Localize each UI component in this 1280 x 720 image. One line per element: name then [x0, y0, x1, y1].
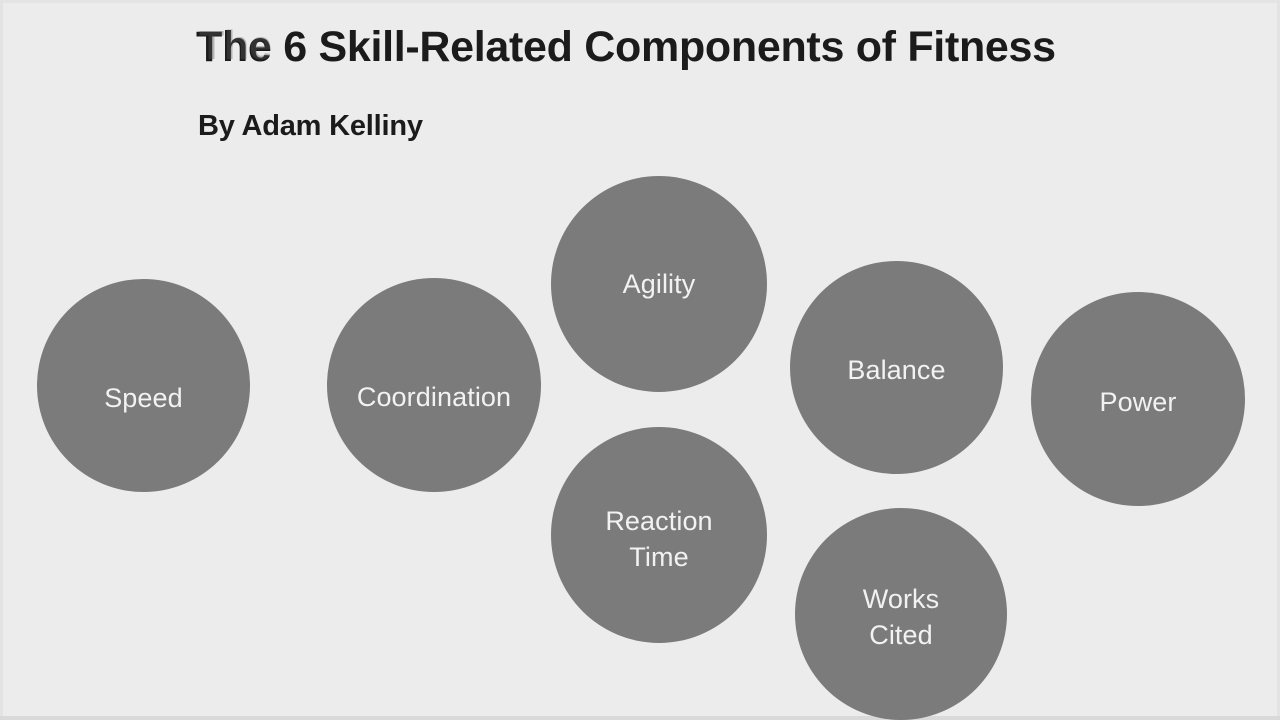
slide-title: The 6 Skill-Related Components of Fitnes…	[196, 24, 1126, 70]
bubble-agility[interactable]: Agility	[551, 176, 767, 392]
presentation-slide: The 6 Skill-Related Components of Fitnes…	[0, 0, 1280, 720]
bubble-works-cited[interactable]: Works Cited	[795, 508, 1007, 720]
bubble-label-balance: Balance	[841, 353, 951, 389]
bubble-label-coordination: Coordination	[351, 380, 517, 416]
bubble-balance[interactable]: Balance	[790, 261, 1003, 474]
bubble-speed[interactable]: Speed	[37, 279, 250, 492]
bubble-coordination[interactable]: Coordination	[327, 278, 541, 492]
slide-subtitle-author: By Adam Kelliny	[198, 110, 423, 143]
bubble-label-speed: Speed	[98, 381, 189, 417]
bubble-power[interactable]: Power	[1031, 292, 1245, 506]
bubble-label-agility: Agility	[617, 267, 702, 303]
slide-edge-top	[0, 0, 1280, 3]
slide-edge-left	[0, 0, 3, 720]
bubble-label-works-cited: Works Cited	[857, 582, 946, 653]
bubble-reaction-time[interactable]: Reaction Time	[551, 427, 767, 643]
bubble-label-power: Power	[1093, 385, 1182, 421]
slide-edge-bottom	[0, 716, 1280, 720]
bubble-label-reaction-time: Reaction Time	[599, 504, 718, 575]
